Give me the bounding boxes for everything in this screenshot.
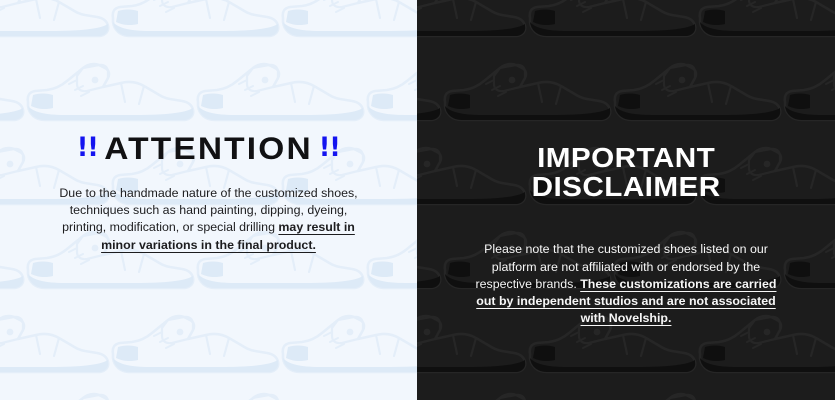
disclaimer-heading-line1: IMPORTANT <box>537 142 715 173</box>
disclaimer-body-text: Please note that the customized shoes li… <box>466 241 786 327</box>
disclaimer-panel: IMPORTANT DISCLAIMER Please note that th… <box>417 0 835 400</box>
attention-panel: !! ATTENTION !! Due to the handmade natu… <box>0 0 417 400</box>
attention-heading: !! ATTENTION !! <box>76 133 340 164</box>
disclaimer-heading: IMPORTANT DISCLAIMER <box>532 143 721 201</box>
attention-title: ATTENTION <box>104 133 313 165</box>
double-exclamation-left-icon: !! <box>77 134 98 161</box>
disclaimer-heading-line2: DISCLAIMER <box>532 172 721 201</box>
double-exclamation-right-icon: !! <box>319 134 340 161</box>
disclaimer-banner: !! ATTENTION !! Due to the handmade natu… <box>0 0 835 400</box>
attention-body-text: Due to the handmade nature of the custom… <box>54 185 364 254</box>
